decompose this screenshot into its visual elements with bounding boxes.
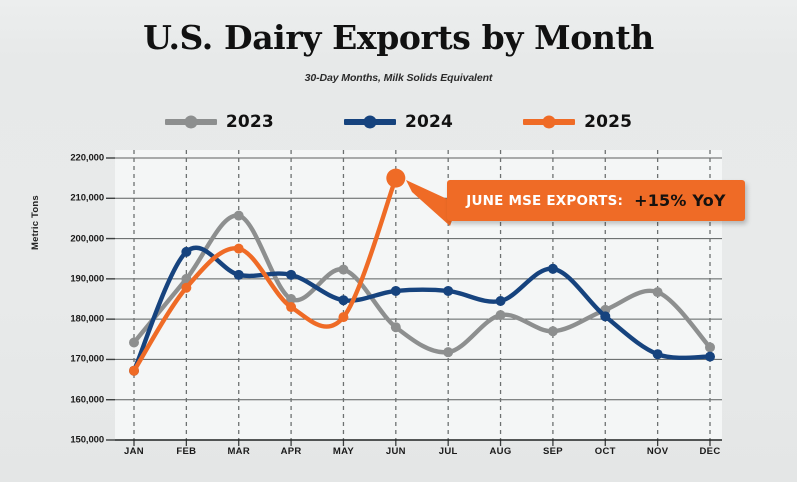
line-plot [0, 0, 797, 482]
callout-label: JUNE MSE EXPORTS: [466, 193, 623, 209]
callout-box[interactable]: JUNE MSE EXPORTS: +15% YoY [447, 180, 745, 221]
callout-value: +15% YoY [634, 191, 726, 210]
chart-area: Metric Tons 220,000210,000200,000190,000… [0, 0, 797, 482]
highlight-marker-jun-2025 [386, 169, 405, 188]
